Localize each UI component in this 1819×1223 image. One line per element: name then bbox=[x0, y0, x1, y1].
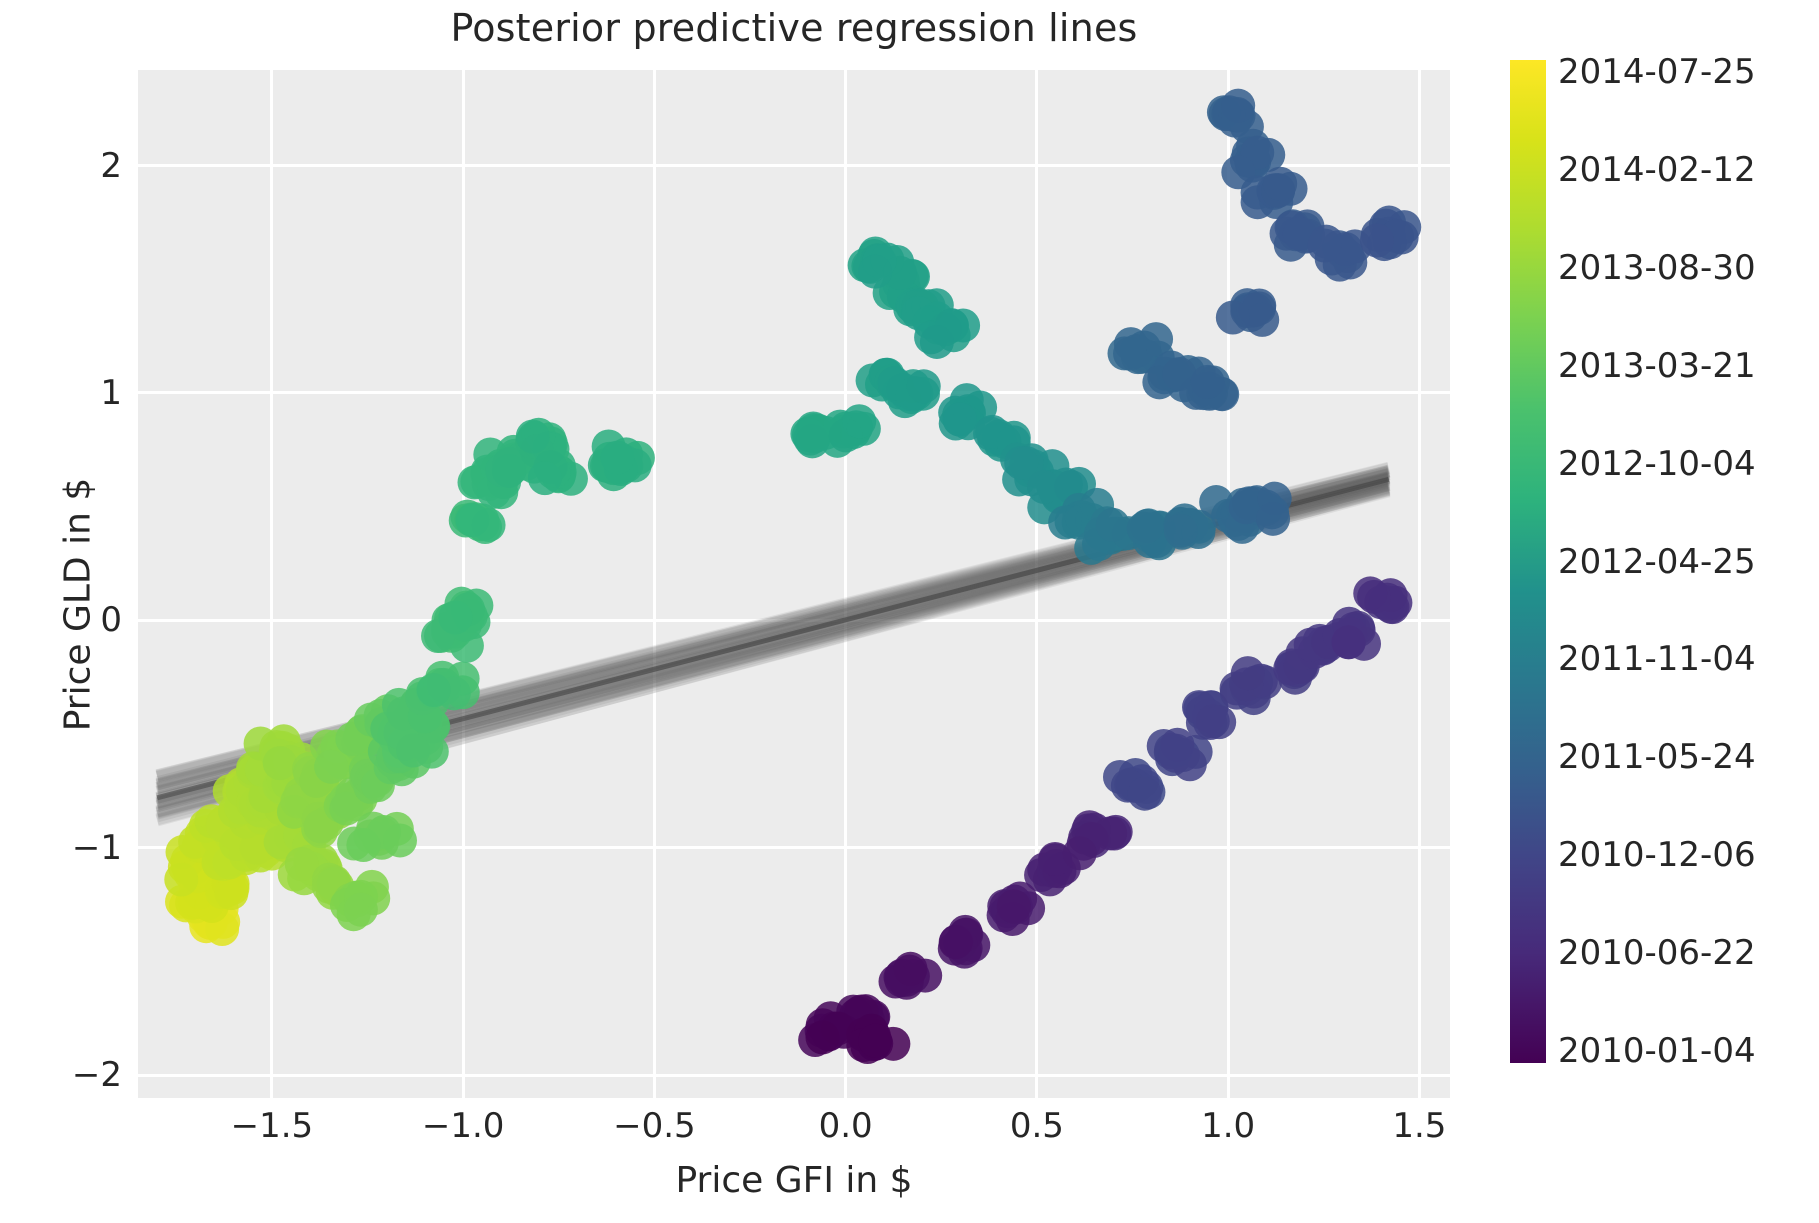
scatter-point bbox=[1063, 836, 1097, 870]
x-axis-label: Price GFI in $ bbox=[138, 1160, 1450, 1201]
colorbar-tick-label: 2010-06-22 bbox=[1558, 933, 1756, 973]
scatter-point bbox=[1360, 224, 1394, 258]
scatter-point bbox=[939, 925, 973, 959]
y-tick-label: 0 bbox=[100, 600, 122, 640]
scatter-point bbox=[1130, 509, 1164, 543]
scatter-point bbox=[1128, 777, 1162, 811]
figure-canvas: Posterior predictive regression lines 21… bbox=[0, 0, 1819, 1223]
scatter-point bbox=[997, 889, 1031, 923]
y-tick-label: 2 bbox=[100, 146, 122, 186]
page-title: Posterior predictive regression lines bbox=[138, 6, 1450, 50]
scatter-point bbox=[396, 734, 430, 768]
colorbar-tick-label: 2011-11-04 bbox=[1558, 639, 1756, 679]
scatter-point bbox=[492, 454, 526, 488]
x-tick-label: −1.0 bbox=[422, 1106, 505, 1146]
scatter-point bbox=[842, 404, 876, 438]
colorbar-tick-label: 2013-03-21 bbox=[1558, 346, 1756, 386]
scatter-point bbox=[920, 325, 954, 359]
colorbar-tick-label: 2010-01-04 bbox=[1558, 1031, 1756, 1071]
colorbar-tick-label: 2013-08-30 bbox=[1558, 248, 1756, 288]
x-tick-label: −0.5 bbox=[613, 1106, 696, 1146]
scatter-point bbox=[1164, 514, 1198, 548]
scatter-point bbox=[1221, 89, 1255, 123]
scatter-point bbox=[1216, 300, 1250, 334]
colorbar bbox=[1510, 60, 1546, 1063]
y-axis-label: Price GLD in $ bbox=[58, 305, 99, 905]
scatter-point bbox=[455, 503, 489, 537]
scatter-point bbox=[858, 1024, 892, 1058]
x-tick-label: 1.0 bbox=[1201, 1106, 1255, 1146]
x-tick-label: 0.5 bbox=[1010, 1106, 1064, 1146]
scatter-point bbox=[907, 369, 941, 403]
scatter-point bbox=[1256, 502, 1290, 536]
x-tick-label: 0.0 bbox=[819, 1106, 873, 1146]
scatter-point bbox=[383, 823, 417, 857]
scatter-point bbox=[1245, 303, 1279, 337]
scatter-point bbox=[346, 828, 380, 862]
scatter-point bbox=[893, 952, 927, 986]
scatter-point bbox=[858, 255, 892, 289]
scatter-point bbox=[417, 673, 451, 707]
scatter-points bbox=[138, 70, 1450, 1098]
y-tick-label: 1 bbox=[100, 373, 122, 413]
scatter-point bbox=[314, 750, 348, 784]
scatter-point bbox=[1196, 704, 1230, 738]
colorbar-tick-label: 2012-10-04 bbox=[1558, 444, 1756, 484]
scatter-point bbox=[1113, 337, 1147, 371]
scatter-point bbox=[263, 746, 297, 780]
scatter-point bbox=[805, 1020, 839, 1054]
scatter-point bbox=[1331, 625, 1365, 659]
colorbar-tick-label: 2011-05-24 bbox=[1558, 737, 1756, 777]
plot-area bbox=[138, 70, 1450, 1098]
colorbar-tick-label: 2012-04-25 bbox=[1558, 542, 1756, 582]
x-tick-label: −1.5 bbox=[231, 1106, 314, 1146]
scatter-point bbox=[795, 424, 829, 458]
colorbar-tick-label: 2014-02-12 bbox=[1558, 150, 1756, 190]
scatter-point bbox=[1231, 656, 1265, 690]
scatter-point bbox=[528, 461, 562, 495]
colorbar-tick-label: 2014-07-25 bbox=[1558, 52, 1756, 92]
scatter-point bbox=[1308, 229, 1342, 263]
scatter-point bbox=[344, 893, 378, 927]
scatter-point bbox=[438, 600, 472, 634]
y-tick-label: −2 bbox=[72, 1055, 122, 1095]
scatter-point bbox=[1263, 167, 1297, 201]
scatter-point bbox=[516, 420, 550, 454]
scatter-point bbox=[943, 403, 977, 437]
scatter-point bbox=[1160, 728, 1194, 762]
scatter-point bbox=[600, 441, 634, 475]
scatter-point bbox=[164, 863, 198, 897]
scatter-point bbox=[1191, 365, 1225, 399]
colorbar-tick-label: 2010-12-06 bbox=[1558, 835, 1756, 875]
x-tick-label: 1.5 bbox=[1392, 1106, 1446, 1146]
scatter-point bbox=[214, 876, 248, 910]
scatter-point bbox=[1353, 576, 1387, 610]
scatter-point bbox=[1096, 508, 1130, 542]
